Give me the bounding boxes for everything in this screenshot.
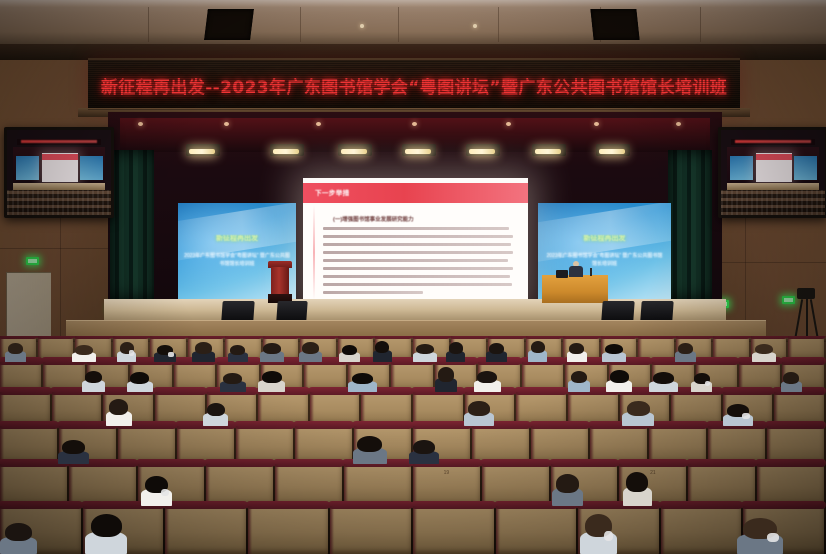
stage-monitor-speaker <box>601 301 634 321</box>
led-left-title: 新征程再出发 <box>187 235 286 244</box>
face-mask <box>168 352 173 356</box>
seated-audience: 1921 <box>0 336 826 554</box>
slide-body: (一)增强图书馆事业发展研究能力 <box>303 205 528 300</box>
banner-text: 新征程再出发--2023年广东图书馆学会“粤图讲坛”暨广东公共图书馆馆长培训班 <box>101 73 727 98</box>
audience-member <box>109 399 128 426</box>
audience-member <box>477 371 497 392</box>
camera-icon <box>797 288 815 299</box>
face-mask <box>705 381 710 386</box>
audience-member <box>207 403 225 426</box>
face-mask <box>604 531 613 541</box>
overhead-light-truss <box>120 118 710 152</box>
audience-member <box>263 343 281 362</box>
audience-seat[interactable] <box>743 506 824 554</box>
audience-seat[interactable] <box>0 464 67 506</box>
ceiling-lip <box>0 0 826 7</box>
audience-member <box>62 440 85 464</box>
stage-curtain-left <box>110 150 154 300</box>
ceiling-soffit <box>0 0 826 44</box>
audience-member <box>357 436 382 464</box>
audience-member <box>694 373 710 392</box>
stage-curtain-right <box>668 150 712 300</box>
stage-lamp-icon <box>596 144 630 156</box>
audience-member <box>556 474 579 506</box>
audience-member <box>627 401 650 426</box>
stage-monitor-speaker <box>276 301 307 321</box>
auditorium-photo: 新征程再出发--2023年广东图书馆学会“粤图讲坛”暨广东公共图书馆馆长培训班 … <box>0 0 826 554</box>
stage-lamp-icon <box>186 144 220 156</box>
audience-seat[interactable] <box>248 506 329 554</box>
audience-member <box>413 440 435 464</box>
panel-table <box>542 275 608 303</box>
audience-seat[interactable] <box>138 464 205 506</box>
audience-member <box>571 371 587 392</box>
slide-body-heading: (一)增强图书馆事业发展研究能力 <box>333 215 414 223</box>
audience-member <box>449 342 463 362</box>
audience-seat[interactable] <box>344 464 411 506</box>
audience-member <box>5 523 32 554</box>
audience-seat[interactable] <box>275 464 342 506</box>
audience-seat[interactable] <box>69 464 136 506</box>
led-right-title: 新征程再出发 <box>549 235 661 244</box>
audience-member <box>262 371 282 392</box>
speaker-podium <box>268 261 292 303</box>
audience-member <box>531 341 545 362</box>
stage-lamp-icon <box>532 144 566 156</box>
stage-monitor-speaker <box>221 301 254 321</box>
audience-member <box>755 344 773 362</box>
face-mask <box>742 413 749 419</box>
audience-seat[interactable] <box>330 506 411 554</box>
audience-member <box>120 342 134 362</box>
audience-seat[interactable] <box>688 464 755 506</box>
audience-member <box>145 476 168 506</box>
audience-member <box>230 345 245 362</box>
audience-member <box>223 373 242 392</box>
audience-seat[interactable] <box>165 506 246 554</box>
audience-member <box>75 345 93 362</box>
audience-seat[interactable] <box>496 506 577 554</box>
audience-seat[interactable] <box>578 506 659 554</box>
audience-seat[interactable] <box>757 464 824 506</box>
audience-member <box>468 401 490 426</box>
exit-sign <box>26 257 39 265</box>
audience-member <box>610 370 629 392</box>
slide-header-text: 下一步举措 <box>315 187 350 197</box>
audience-seat[interactable] <box>551 464 618 506</box>
audience-member <box>653 372 674 392</box>
face-mask <box>767 533 779 542</box>
face-mask <box>129 350 134 355</box>
seat-number: 19 <box>444 470 450 476</box>
audience-seat[interactable] <box>83 506 164 554</box>
audience-member <box>302 342 319 362</box>
stage-monitor-speaker <box>640 301 673 321</box>
audience-member <box>85 371 102 392</box>
seated-speaker <box>568 261 584 277</box>
presentation-slide: 下一步举措 (一)增强图书馆事业发展研究能力 <box>303 178 528 306</box>
audience-member <box>783 372 799 392</box>
seat-row <box>0 506 826 554</box>
audience-member <box>678 343 693 362</box>
audience-seat[interactable] <box>482 464 549 506</box>
audience-member <box>130 372 149 392</box>
ceiling-downlight-icon <box>360 24 364 28</box>
stage-lamp-icon <box>338 144 372 156</box>
audience-member <box>8 343 23 362</box>
led-right-subtitle: 2023年广东图书馆学会“粤图讲坛” 暨广东公共图书馆馆长培训班 <box>545 253 665 268</box>
audience-member <box>438 367 454 392</box>
audience-member <box>727 404 749 426</box>
audience-member <box>157 345 173 362</box>
slide-header-bar: 下一步举措 <box>303 183 528 203</box>
audience-member <box>489 343 504 362</box>
audience-member <box>585 514 612 554</box>
audience-member <box>91 514 122 554</box>
audience-member <box>195 342 212 362</box>
side-tv-right <box>718 127 826 218</box>
face-mask <box>161 489 169 497</box>
stage-lamp-icon <box>402 144 436 156</box>
side-tv-left <box>4 127 114 218</box>
audience-member <box>342 345 357 362</box>
audience-member <box>375 341 389 362</box>
audience-member <box>743 518 777 554</box>
stage-lamp-icon <box>270 144 304 156</box>
audience-member <box>605 344 623 362</box>
microphone-icon <box>590 268 592 276</box>
ceiling-downlight-icon <box>473 24 477 28</box>
audience-seat[interactable] <box>206 464 273 506</box>
ceiling-vent <box>204 9 254 40</box>
ceiling-vent <box>590 9 639 40</box>
audience-member <box>416 344 434 362</box>
seat-row: 1921 <box>0 464 826 506</box>
audience-member <box>626 472 648 506</box>
audience-seat[interactable]: 21 <box>619 464 686 506</box>
audience-seat[interactable] <box>413 506 494 554</box>
led-headline-banner: 新征程再出发--2023年广东图书馆学会“粤图讲坛”暨广东公共图书馆馆长培训班 <box>88 58 740 112</box>
laptop-icon <box>556 270 568 278</box>
audience-member <box>569 343 584 362</box>
seat-number: 21 <box>650 470 656 476</box>
audience-seat[interactable]: 19 <box>413 464 480 506</box>
audience-seat[interactable] <box>661 506 742 554</box>
audience-member <box>352 373 373 392</box>
audience-seat[interactable] <box>0 506 81 554</box>
stage-lamp-icon <box>466 144 500 156</box>
